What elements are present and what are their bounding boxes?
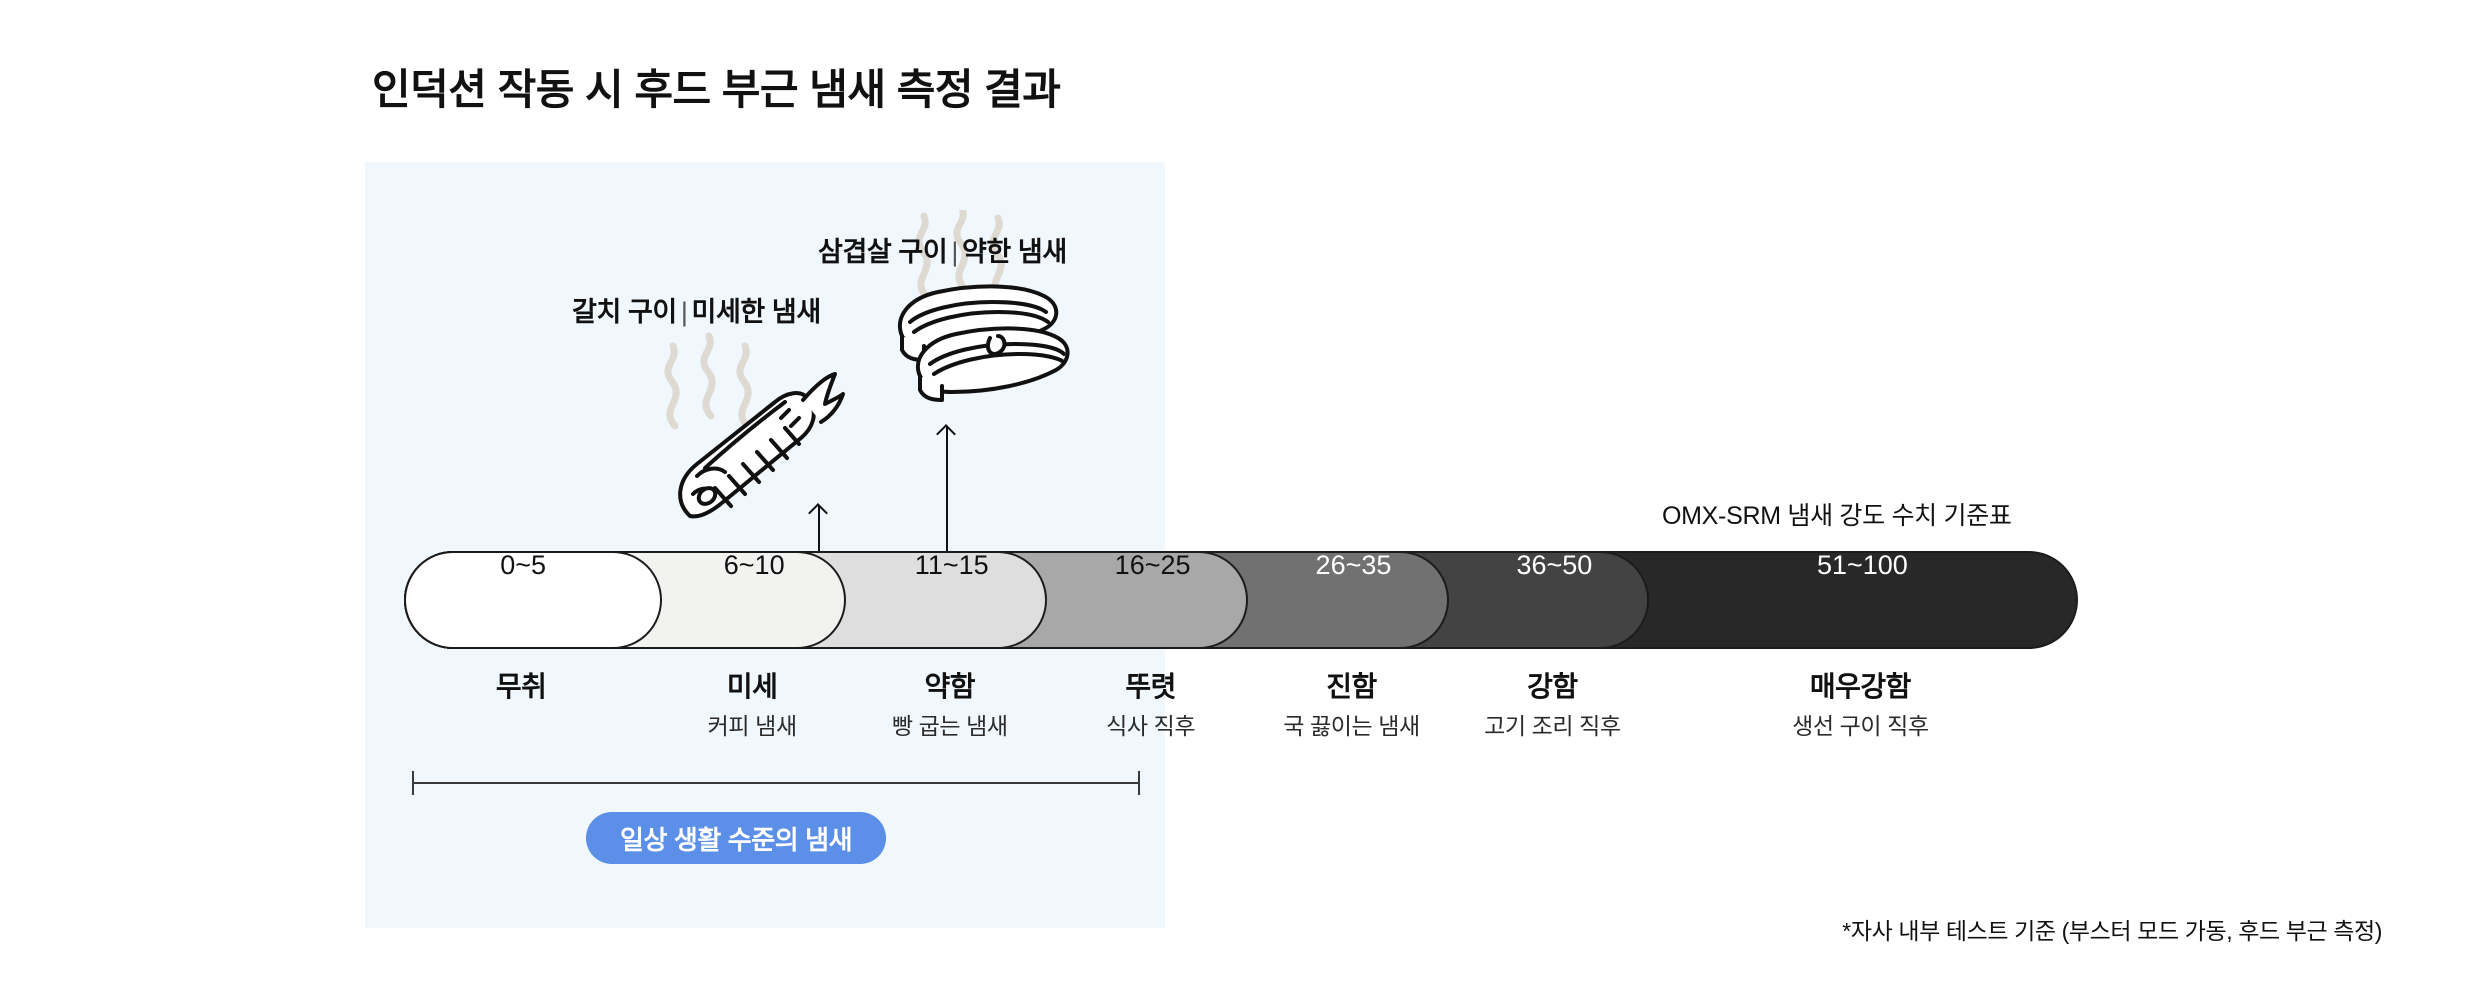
callout-separator-fish: | xyxy=(677,297,692,327)
category-name: 뚜렷 xyxy=(1106,672,1195,703)
pointer-arrow-pork xyxy=(946,427,948,556)
scale-segment-range-label: 36~50 xyxy=(1516,552,1592,579)
category-name: 진함 xyxy=(1283,672,1420,703)
category-name: 매우강함 xyxy=(1792,672,1929,703)
pointer-arrow-fish xyxy=(818,506,820,556)
scale-segment: 0~5 xyxy=(404,551,662,649)
category-label: 진함국 끓이는 냄새 xyxy=(1283,672,1420,739)
everyday-range-bracket xyxy=(412,782,1140,784)
page-title: 인덕션 작동 시 후드 부근 냄새 측정 결과 xyxy=(372,56,1060,117)
scale-segment-range-label: 16~25 xyxy=(1115,552,1191,579)
footnote: *자사 내부 테스트 기준 (부스터 모드 가동, 후드 부근 측정) xyxy=(1842,912,2382,946)
category-name: 약함 xyxy=(892,672,1008,703)
scale-segment-range-label: 51~100 xyxy=(1817,552,1908,579)
category-example: 커피 냄새 xyxy=(708,714,797,739)
category-name: 미세 xyxy=(708,672,797,703)
category-name: 무취 xyxy=(496,672,547,703)
callout-odor-fish: 미세한 냄새 xyxy=(692,297,821,327)
callout-food-pork: 삼겹살 구이 xyxy=(818,237,947,267)
scale-segment-range-label: 0~5 xyxy=(500,552,546,579)
callout-separator-pork: | xyxy=(947,237,962,267)
category-label: 약함빵 굽는 냄새 xyxy=(892,672,1008,739)
scale-caption: OMX-SRM 냄새 강도 수치 기준표 xyxy=(1662,496,2012,532)
scale-segment-range-label: 6~10 xyxy=(724,552,785,579)
category-label: 무취 xyxy=(496,672,547,703)
callout-food-fish: 갈치 구이 xyxy=(572,297,677,327)
category-name: 강함 xyxy=(1484,672,1621,703)
category-label: 매우강함생선 구이 직후 xyxy=(1792,672,1929,739)
everyday-odor-badge: 일상 생활 수준의 냄새 xyxy=(586,812,886,864)
callout-odor-pork: 약한 냄새 xyxy=(962,237,1067,267)
category-example: 국 끓이는 냄새 xyxy=(1283,714,1420,739)
category-example: 빵 굽는 냄새 xyxy=(892,714,1008,739)
category-example: 식사 직후 xyxy=(1106,714,1195,739)
category-example: 생선 구이 직후 xyxy=(1792,714,1929,739)
scale-segment-range-label: 26~35 xyxy=(1316,552,1392,579)
callout-caption-pork: 삼겹살 구이|약한 냄새 xyxy=(818,230,1067,269)
odor-intensity-scale-bar: 0~56~1011~1516~2526~3536~5051~100 xyxy=(404,551,2078,649)
callout-caption-fish: 갈치 구이|미세한 냄새 xyxy=(572,290,821,329)
category-label: 뚜렷식사 직후 xyxy=(1106,672,1195,739)
category-label: 미세커피 냄새 xyxy=(708,672,797,739)
category-example: 고기 조리 직후 xyxy=(1484,714,1621,739)
scale-segment-range-label: 11~15 xyxy=(915,552,989,579)
category-label: 강함고기 조리 직후 xyxy=(1484,672,1621,739)
